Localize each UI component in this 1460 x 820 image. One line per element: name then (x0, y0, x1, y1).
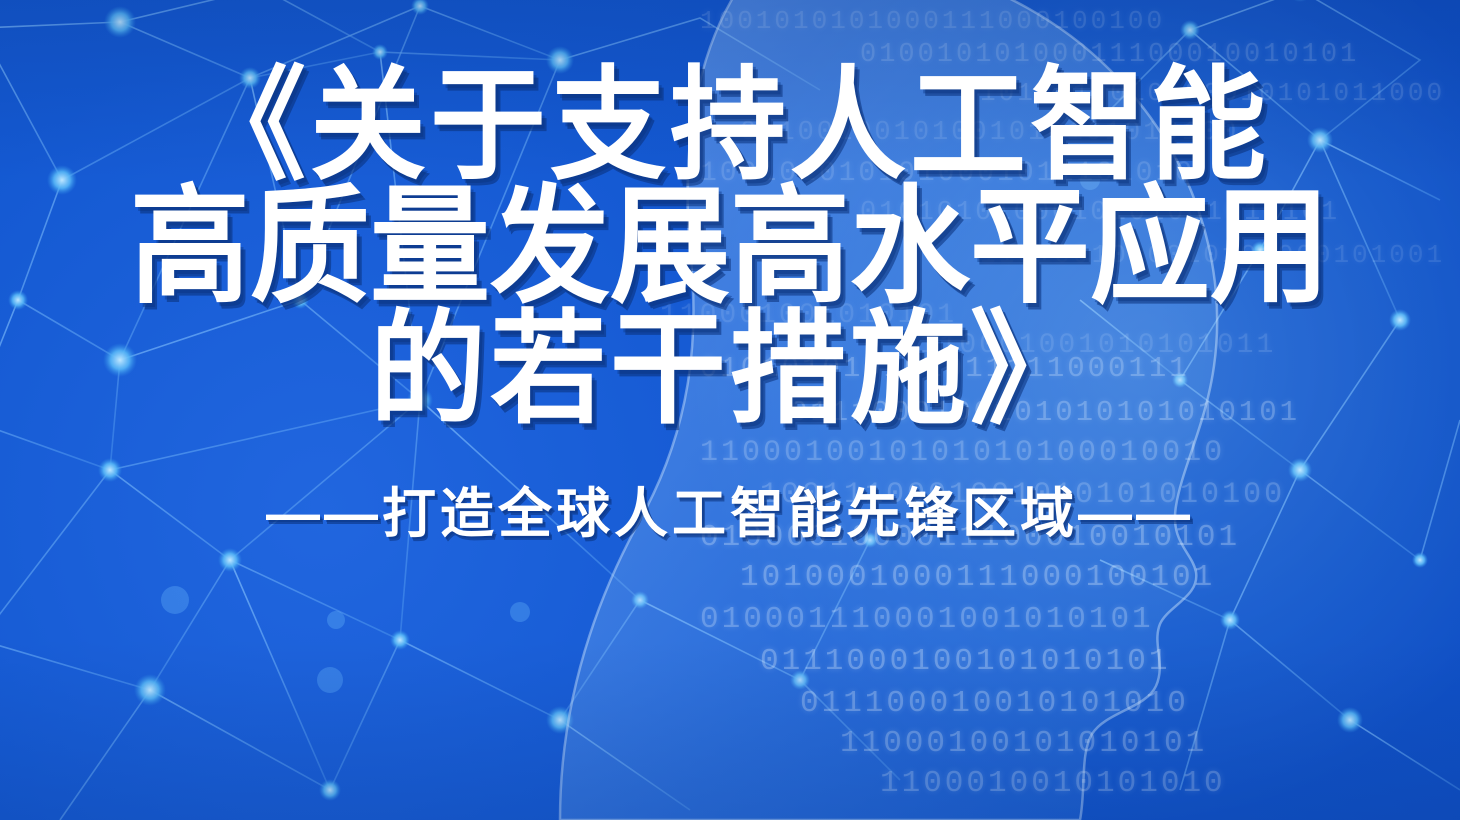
ai-policy-banner: 1001010101000111000100100010010101000111… (0, 0, 1460, 820)
title-line-1: 《关于支持人工智能 (0, 60, 1460, 189)
title-line-2: 高质量发展高水平应用 (0, 182, 1460, 311)
title-line-3: 的若干措施》 (0, 304, 1460, 433)
page-subtitle: ——打造全球人工智能先锋区域—— (0, 484, 1460, 544)
page-title: 《关于支持人工智能 高质量发展高水平应用 的若干措施》 (0, 64, 1460, 430)
